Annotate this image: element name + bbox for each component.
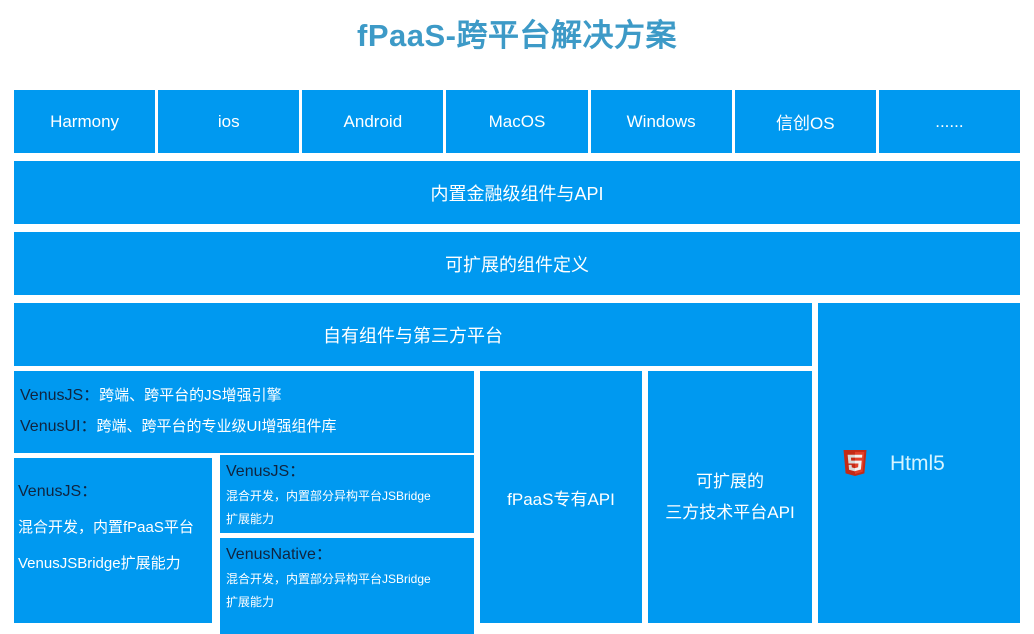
os-cell-macos[interactable]: MacOS [446, 90, 587, 153]
html5-shield-icon [842, 448, 868, 478]
venusjs-heterogeneous-line2: 扩展能力 [226, 508, 468, 531]
venusjs-hybrid-line2: VenusJSBridge扩展能力 [18, 546, 208, 582]
venusui-description: 跨端、跨平台的专业级UI增强组件库 [97, 418, 337, 435]
venusjs-heterogeneous-box[interactable]: VenusJS： 混合开发，内置部分异构平台JSBridge 扩展能力 [220, 455, 474, 533]
venus-engine-summary-box[interactable]: VenusJS：跨端、跨平台的JS增强引擎 VenusUI：跨端、跨平台的专业级… [14, 371, 474, 453]
venusjs-description: 跨端、跨平台的JS增强引擎 [99, 387, 282, 404]
os-cell-windows[interactable]: Windows [591, 90, 732, 153]
column-third-party-platform-api[interactable]: 可扩展的 三方技术平台API [648, 371, 812, 623]
html5-label: Html5 [890, 453, 945, 474]
venusui-label: VenusUI： [20, 418, 97, 435]
band-financial-components-api[interactable]: 内置金融级组件与API [14, 161, 1020, 224]
column-fpaas-proprietary-api[interactable]: fPaaS专有API [480, 371, 642, 623]
venusjs-heterogeneous-head: VenusJS： [226, 459, 468, 485]
os-platform-row: Harmony ios Android MacOS Windows 信创OS .… [14, 90, 1020, 153]
venusnative-heterogeneous-head: VenusNative： [226, 542, 468, 568]
column-html5[interactable]: Html5 [818, 303, 1020, 623]
os-cell-android[interactable]: Android [302, 90, 443, 153]
band-self-and-third-party-components[interactable]: 自有组件与第三方平台 [14, 303, 812, 366]
venusnative-heterogeneous-line2: 扩展能力 [226, 591, 468, 614]
third-party-api-line1: 可扩展的 [665, 466, 794, 497]
os-cell-ios[interactable]: ios [158, 90, 299, 153]
os-cell-more[interactable]: ...... [879, 90, 1020, 153]
os-cell-harmony[interactable]: Harmony [14, 90, 155, 153]
venusjs-hybrid-fpaas-box[interactable]: VenusJS： 混合开发，内置fPaaS平台 VenusJSBridge扩展能… [14, 458, 212, 623]
venusjs-label: VenusJS： [20, 387, 99, 404]
venusjs-hybrid-label: VenusJS： [18, 474, 208, 510]
os-cell-xinchuang-os[interactable]: 信创OS [735, 90, 876, 153]
venusui-summary-line: VenusUI：跨端、跨平台的专业级UI增强组件库 [20, 411, 468, 442]
venusjs-hybrid-key: VenusJS： [18, 483, 97, 500]
venusnative-heterogeneous-box[interactable]: VenusNative： 混合开发，内置部分异构平台JSBridge 扩展能力 [220, 538, 474, 634]
venusnative-heterogeneous-line1: 混合开发，内置部分异构平台JSBridge [226, 568, 468, 591]
venusjs-heterogeneous-line1: 混合开发，内置部分异构平台JSBridge [226, 485, 468, 508]
third-party-api-line2: 三方技术平台API [665, 497, 794, 528]
fpaas-architecture-diagram: fPaaS-跨平台解决方案 Harmony ios Android MacOS … [0, 0, 1034, 634]
venusjs-hybrid-line1: 混合开发，内置fPaaS平台 [18, 510, 208, 546]
band-extensible-component-definition[interactable]: 可扩展的组件定义 [14, 232, 1020, 295]
page-title: fPaaS-跨平台解决方案 [0, 14, 1034, 58]
html5-badge: Html5 [842, 448, 945, 478]
venusjs-summary-line: VenusJS：跨端、跨平台的JS增强引擎 [20, 380, 468, 411]
third-party-api-text: 可扩展的 三方技术平台API [665, 466, 794, 528]
